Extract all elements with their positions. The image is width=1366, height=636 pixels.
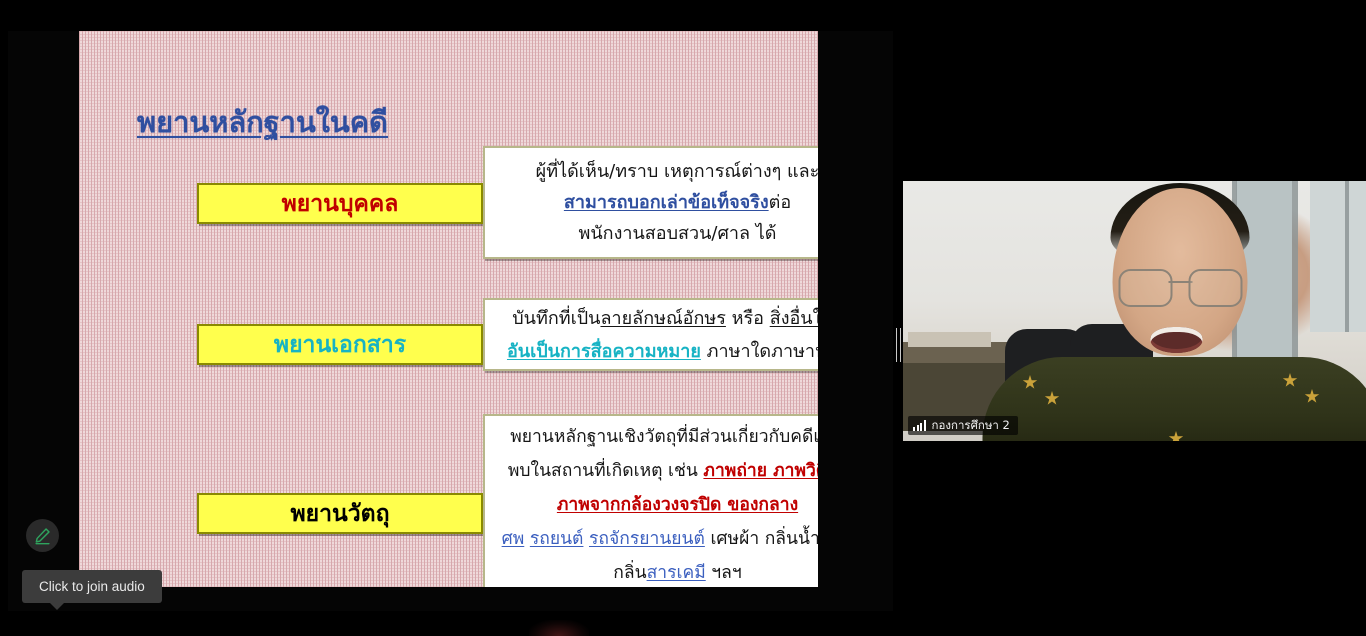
- category-label-text: พยานเอกสาร: [274, 327, 406, 363]
- description-run: เศษผ้า กลิ่นน้ำหอม: [705, 529, 818, 549]
- description-box-witness-person: ผู้ที่ได้เห็น/ทราบ เหตุการณ์ต่างๆ และสาม…: [483, 146, 818, 259]
- category-label-witness-person: พยานบุคคล: [197, 183, 483, 224]
- description-run: ผู้ที่ได้เห็น/ทราบ เหตุการณ์ต่างๆ และ: [536, 161, 818, 182]
- panel-drag-handle-icon[interactable]: [894, 328, 902, 362]
- description-run: ต่อ: [769, 192, 792, 213]
- zoom-meeting-stage: พยานหลักฐานในคดี พยานบุคคล พยานเอกสาร พย…: [0, 0, 1366, 636]
- description-run: สิ่งอื่นใดๆ: [770, 308, 818, 329]
- description-run: ภาษาใดภาษาหนึ่ง: [701, 341, 818, 362]
- video-frame-background: [903, 181, 1366, 441]
- description-run: อันเป็นการสื่อความหมาย: [507, 341, 701, 362]
- participant-video-tile[interactable]: กองการศึกษา 2: [903, 181, 1366, 441]
- description-line: พนักงานสอบสวน/ศาล ได้: [579, 218, 777, 249]
- description-run: ภาพจากกล้องวงจรปิด ของกลาง: [557, 495, 798, 515]
- description-run: พนักงานสอบสวน/ศาล ได้: [579, 223, 777, 244]
- description-box-document-evidence: บันทึกที่เป็นลายลักษณ์อักษร หรือ สิ่งอื่…: [483, 298, 818, 371]
- annotate-pencil-button[interactable]: [26, 519, 59, 552]
- description-line: อันเป็นการสื่อความหมาย ภาษาใดภาษาหนึ่ง: [507, 335, 818, 368]
- description-run: ภาพถ่าย ภาพวิดีโอ: [703, 461, 818, 481]
- participant-subject: [903, 181, 1366, 441]
- description-run: กลิ่น: [613, 563, 646, 583]
- slide-title: พยานหลักฐานในคดี: [137, 99, 388, 145]
- description-run: พบในสถานที่เกิดเหตุ เช่น: [508, 461, 704, 481]
- pencil-edit-icon: [33, 526, 52, 545]
- participant-name-badge: กองการศึกษา 2: [908, 416, 1018, 435]
- description-run: รถจักรยานยนต์: [589, 529, 705, 549]
- join-audio-tooltip: Click to join audio: [22, 570, 162, 603]
- shared-slide: พยานหลักฐานในคดี พยานบุคคล พยานเอกสาร พย…: [79, 31, 818, 587]
- category-label-physical-evidence: พยานวัตถุ: [197, 493, 483, 534]
- signal-bars-icon: [913, 420, 926, 431]
- description-line: กลิ่นสารเคมี ฯลฯ: [613, 556, 741, 587]
- subject-mouth: [1151, 327, 1203, 353]
- description-run: รถยนต์: [530, 529, 584, 549]
- category-label-text: พยานวัตถุ: [290, 496, 389, 532]
- description-line: พบในสถานที่เกิดเหตุ เช่น ภาพถ่าย ภาพวิดี…: [508, 454, 818, 488]
- description-line: ศพ รถยนต์ รถจักรยานยนต์ เศษผ้า กลิ่นน้ำห…: [502, 522, 818, 556]
- description-run: หรือ: [726, 308, 770, 329]
- description-box-physical-evidence: พยานหลักฐานเชิงวัตถุที่มีส่วนเกี่ยวกับคด…: [483, 414, 818, 587]
- category-label-document-evidence: พยานเอกสาร: [197, 324, 483, 365]
- description-run: บันทึกที่เป็น: [512, 308, 600, 329]
- category-label-text: พยานบุคคล: [282, 186, 399, 222]
- description-line: บันทึกที่เป็นลายลักษณ์อักษร หรือ สิ่งอื่…: [512, 302, 818, 335]
- description-run: พยานหลักฐานเชิงวัตถุที่มีส่วนเกี่ยวกับคด…: [510, 427, 818, 447]
- bottom-toolbar-peek[interactable]: [529, 620, 589, 636]
- subject-uniform: [983, 357, 1366, 441]
- description-run: สามารถบอกเล่าข้อเท็จจริง: [564, 192, 769, 213]
- description-line: ผู้ที่ได้เห็น/ทราบ เหตุการณ์ต่างๆ และ: [536, 156, 818, 187]
- description-run: ศพ: [502, 529, 525, 549]
- description-run: ฯลฯ: [706, 563, 742, 583]
- description-line: สามารถบอกเล่าข้อเท็จจริงต่อ: [564, 187, 791, 218]
- description-line: พยานหลักฐานเชิงวัตถุที่มีส่วนเกี่ยวกับคด…: [510, 420, 818, 454]
- description-run: ลายลักษณ์อักษร: [600, 308, 725, 329]
- subject-glasses: [1119, 269, 1243, 303]
- description-run: สารเคมี: [647, 563, 706, 583]
- description-line: ภาพจากกล้องวงจรปิด ของกลาง: [557, 488, 798, 522]
- participant-name: กองการศึกษา 2: [932, 417, 1010, 435]
